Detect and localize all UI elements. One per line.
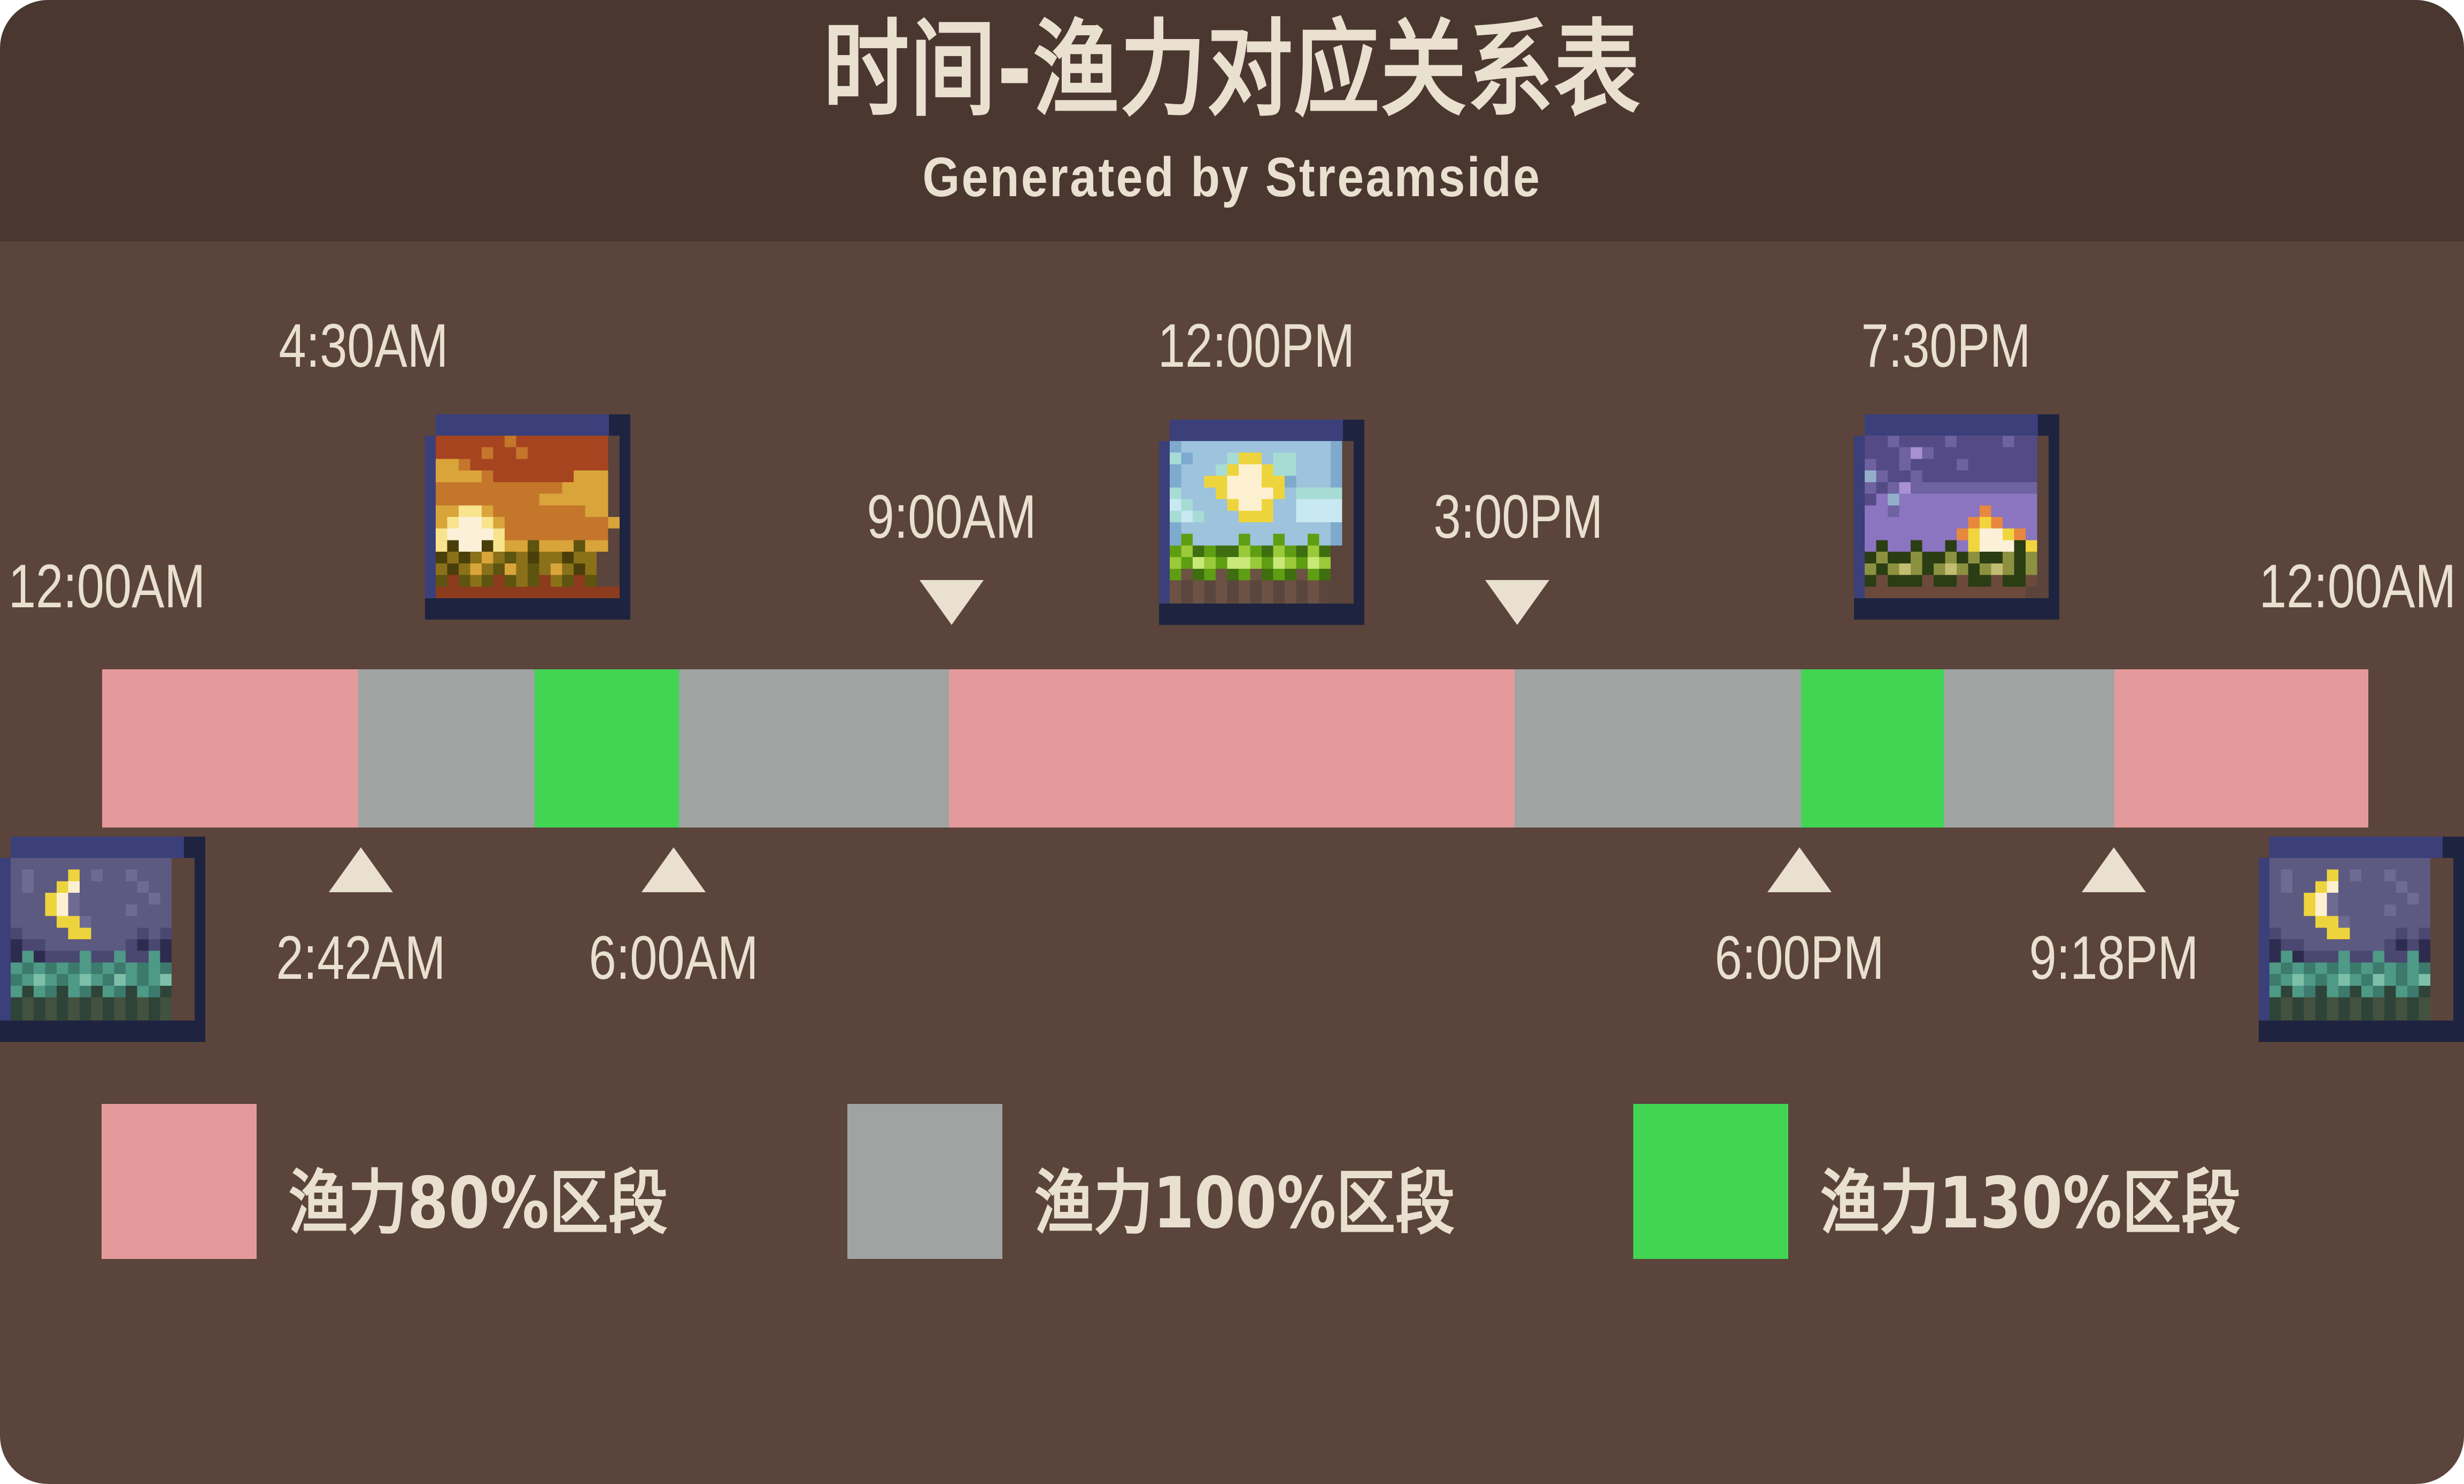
sunrise-icon [425, 414, 630, 620]
label-timeline-end: 12:00AM [2229, 556, 2464, 617]
label-7-30pm: 7:30PM [1818, 315, 2074, 377]
fishing-power-chart-card: 时间-渔力对应关系表 Generated by Streamside 4:30A… [0, 0, 2464, 1484]
label-9-00am: 9:00AM [823, 486, 1080, 548]
label-12-00pm: 12:00PM [1128, 315, 1385, 377]
label-2-42am: 2:42AM [233, 928, 489, 989]
triangle-up-icon [2082, 847, 2146, 892]
label-6-00pm: 6:00PM [1671, 928, 1928, 989]
triangle-down-icon [920, 580, 984, 625]
page-title: 时间-渔力对应关系表 [222, 16, 2242, 125]
segment-80-3[interactable] [2114, 669, 2368, 828]
page-subtitle: Generated by Streamside [173, 150, 2292, 205]
label-timeline-start: 12:00AM [0, 556, 235, 617]
label-9-18pm: 9:18PM [1986, 928, 2242, 989]
night-icon [2259, 837, 2464, 1042]
sun-icon [1159, 420, 1364, 625]
triangle-down-icon [1485, 580, 1549, 625]
legend-label-80: 渔力80%区段 [289, 1168, 668, 1239]
segment-130-2[interactable] [1801, 669, 1944, 828]
label-3-00pm: 3:00PM [1390, 486, 1647, 548]
segment-80-1[interactable] [102, 669, 358, 828]
legend-swatch-gray [847, 1104, 1002, 1259]
segment-100-4[interactable] [1944, 669, 2114, 828]
legend-label-130: 渔力130%区段 [1820, 1168, 2241, 1239]
segment-130-1[interactable] [535, 669, 679, 828]
legend-swatch-green [1633, 1104, 1788, 1259]
night-icon [0, 837, 205, 1042]
triangle-up-icon [329, 847, 393, 892]
label-6-00am: 6:00AM [545, 928, 802, 989]
dusk-icon [1854, 414, 2059, 620]
segment-100-2[interactable] [679, 669, 949, 828]
segment-80-2[interactable] [949, 669, 1515, 828]
label-4-30am: 4:30AM [235, 315, 492, 377]
triangle-up-icon [1767, 847, 1832, 892]
legend-swatch-pink [102, 1104, 257, 1259]
triangle-up-icon [642, 847, 706, 892]
segment-100-1[interactable] [358, 669, 535, 828]
legend-label-100: 渔力100%区段 [1034, 1168, 1455, 1239]
segment-100-3[interactable] [1515, 669, 1801, 828]
fishing-power-timeline-bar[interactable] [102, 669, 2368, 828]
